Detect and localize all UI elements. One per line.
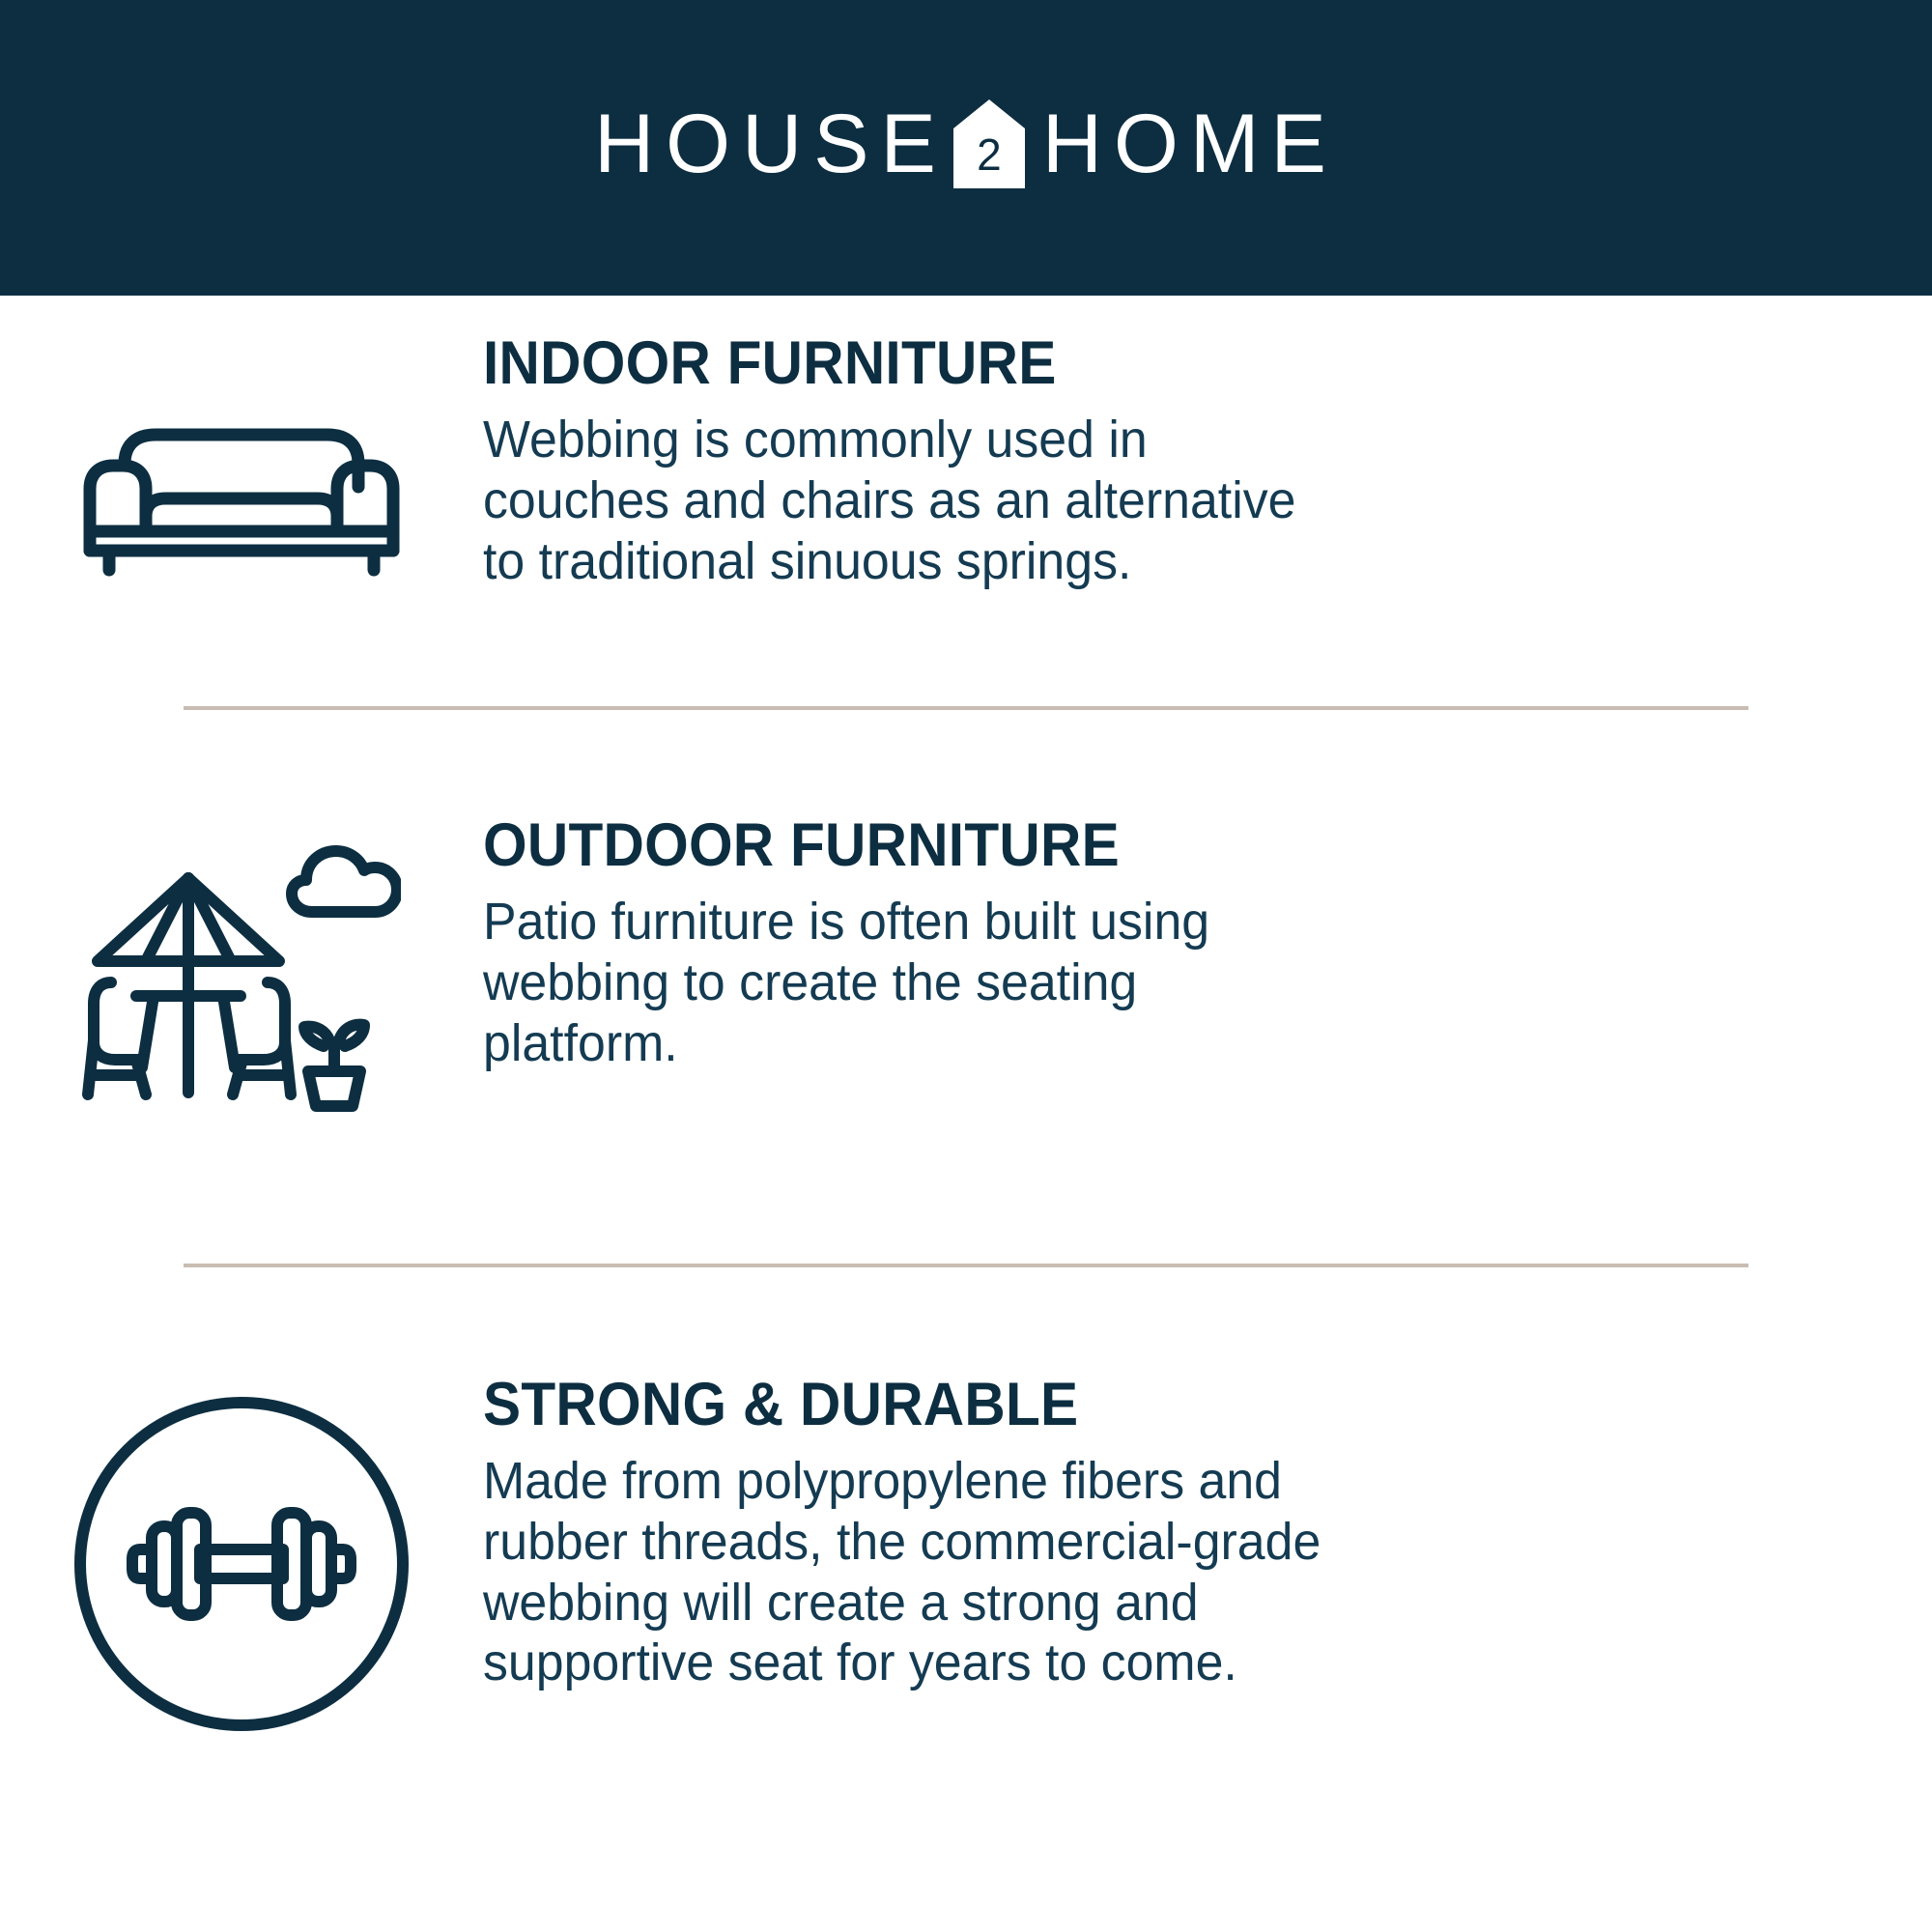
spacer <box>0 1267 1932 1374</box>
brand-logo: HOUSE 2 HOME <box>594 99 1338 188</box>
brand-word-right: HOME <box>1042 102 1338 185</box>
spacer <box>0 1146 1932 1264</box>
feature-body-line: webbing will create a strong and <box>483 1573 1763 1634</box>
feature-title: INDOOR FURNITURE <box>483 332 1722 394</box>
brand-word-left: HOUSE <box>594 102 948 185</box>
feature-indoor-furniture: INDOOR FURNITURE Webbing is commonly use… <box>0 296 1932 598</box>
feature-body: Webbing is commonly used in couches and … <box>483 410 1763 591</box>
feature-text-slot: STRONG & DURABLE Made from polypropylene… <box>483 1374 1932 1693</box>
feature-icon-slot <box>0 814 483 1146</box>
house-badge-icon: 2 <box>953 99 1025 188</box>
feature-body-line: rubber threads, the commercial-grade <box>483 1512 1763 1573</box>
feature-body-line: Patio furniture is often built using <box>483 892 1763 952</box>
feature-title: OUTDOOR FURNITURE <box>483 814 1722 876</box>
feature-title: STRONG & DURABLE <box>483 1374 1722 1435</box>
couch-icon <box>82 371 401 598</box>
patio-set-icon <box>82 822 401 1146</box>
house-badge-number: 2 <box>953 132 1025 177</box>
dumbbell-circle-icon <box>72 1395 411 1738</box>
feature-body-line: Webbing is commonly used in <box>483 410 1763 470</box>
feature-body-line: platform. <box>483 1013 1763 1074</box>
feature-body-line: couches and chairs as an alternative <box>483 470 1763 531</box>
infographic-page: HOUSE 2 HOME <box>0 0 1932 1932</box>
feature-text-slot: INDOOR FURNITURE Webbing is commonly use… <box>483 332 1932 591</box>
feature-outdoor-furniture: OUTDOOR FURNITURE Patio furniture is oft… <box>0 814 1932 1146</box>
spacer <box>0 598 1932 706</box>
feature-body-line: supportive seat for years to come. <box>483 1633 1763 1693</box>
brand-header: HOUSE 2 HOME <box>0 0 1932 296</box>
feature-strong-durable: STRONG & DURABLE Made from polypropylene… <box>0 1374 1932 1738</box>
feature-body-line: to traditional sinuous springs. <box>483 531 1763 592</box>
feature-body: Patio furniture is often built using web… <box>483 892 1763 1073</box>
spacer <box>0 710 1932 814</box>
feature-icon-slot <box>0 1374 483 1738</box>
feature-body-line: Made from polypropylene fibers and <box>483 1451 1763 1512</box>
feature-body-line: webbing to create the seating <box>483 952 1763 1013</box>
features-list: INDOOR FURNITURE Webbing is commonly use… <box>0 296 1932 1738</box>
feature-body: Made from polypropylene fibers and rubbe… <box>483 1451 1763 1693</box>
feature-icon-slot <box>0 332 483 598</box>
feature-text-slot: OUTDOOR FURNITURE Patio furniture is oft… <box>483 814 1932 1073</box>
